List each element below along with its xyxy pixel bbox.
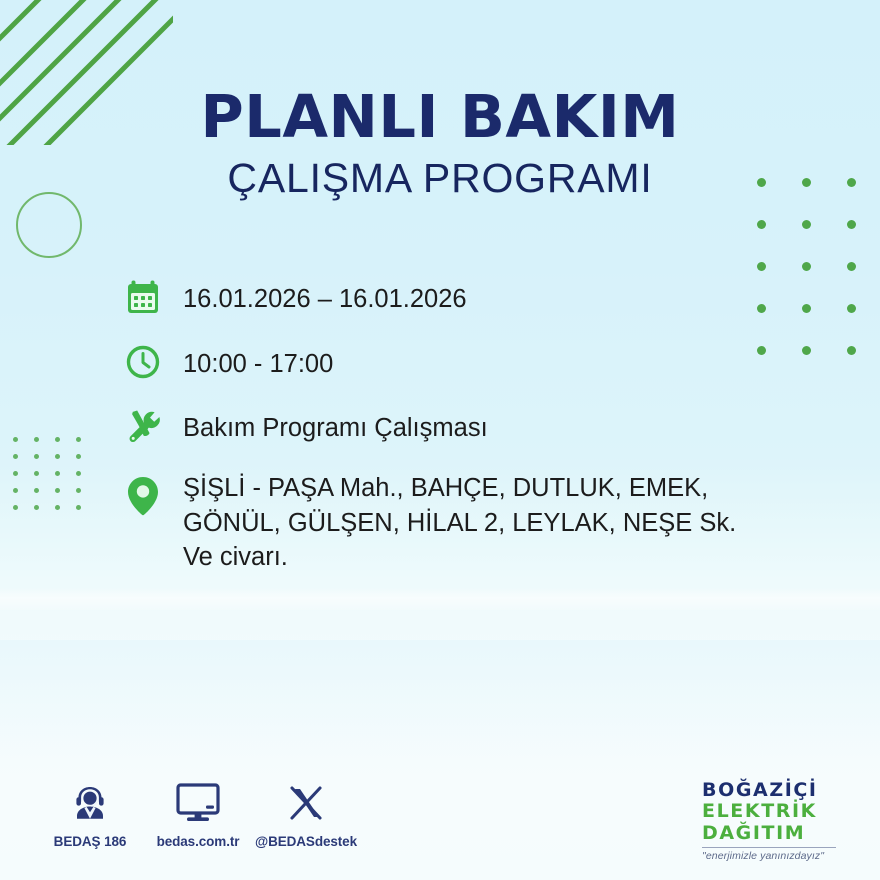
page-subtitle: ÇALIŞMA PROGRAMI (0, 156, 880, 201)
detail-location-text: ŞİŞLİ - PAŞA Mah., BAHÇE, DUTLUK, EMEK, … (166, 469, 736, 575)
detail-row-date: 16.01.2026 – 16.01.2026 (120, 274, 820, 320)
brand-line-dagitim: DAĞITIM (702, 823, 862, 844)
maintenance-details: 16.01.2026 – 16.01.2026 10:00 - 17:00 (120, 274, 820, 575)
circle-outline-decoration (16, 192, 82, 258)
calendar-icon (120, 274, 166, 320)
detail-date-text: 16.01.2026 – 16.01.2026 (166, 274, 467, 317)
contact-website[interactable]: bedas.com.tr (144, 778, 252, 849)
detail-row-location: ŞİŞLİ - PAŞA Mah., BAHÇE, DUTLUK, EMEK, … (120, 469, 820, 575)
detail-time-text: 10:00 - 17:00 (166, 339, 333, 382)
poster-header: PLANLI BAKIM ÇALIŞMA PROGRAMI (0, 86, 880, 201)
detail-row-worktype: Bakım Programı Çalışması (120, 404, 820, 450)
bedas-logo: BOĞAZİÇİ ELEKTRİK DAĞITIM "enerjimizle y… (702, 780, 862, 862)
detail-worktype-text: Bakım Programı Çalışması (166, 404, 488, 446)
detail-row-time: 10:00 - 17:00 (120, 339, 820, 385)
support-agent-icon (36, 778, 144, 828)
contact-x-social[interactable]: @BEDASdestek (252, 778, 360, 849)
contact-x-label: @BEDASdestek (252, 834, 360, 849)
contact-phone-label: BEDAŞ 186 (36, 834, 144, 849)
brand-divider (702, 847, 836, 848)
poster-footer: BEDAŞ 186 bedas.com.tr (0, 778, 880, 880)
x-twitter-icon (252, 778, 360, 828)
clock-icon (120, 339, 166, 385)
planned-maintenance-poster: PLANLI BAKIM ÇALIŞMA PROGRAMI (0, 0, 880, 880)
brand-line-elektrik: ELEKTRİK (702, 801, 862, 822)
brand-tagline: "enerjimizle yanınızdayız" (702, 850, 862, 862)
location-pin-icon (120, 473, 166, 519)
contact-phone[interactable]: BEDAŞ 186 (36, 778, 144, 849)
brand-line-bogazici: BOĞAZİÇİ (702, 780, 862, 801)
dot-grid-decoration-left (13, 437, 97, 522)
background-fade (0, 640, 880, 760)
contact-channels: BEDAŞ 186 bedas.com.tr (36, 778, 360, 849)
page-title: PLANLI BAKIM (0, 86, 880, 148)
contact-website-label: bedas.com.tr (144, 834, 252, 849)
tools-icon (120, 404, 166, 450)
background-seam (0, 588, 880, 610)
monitor-icon (144, 778, 252, 828)
